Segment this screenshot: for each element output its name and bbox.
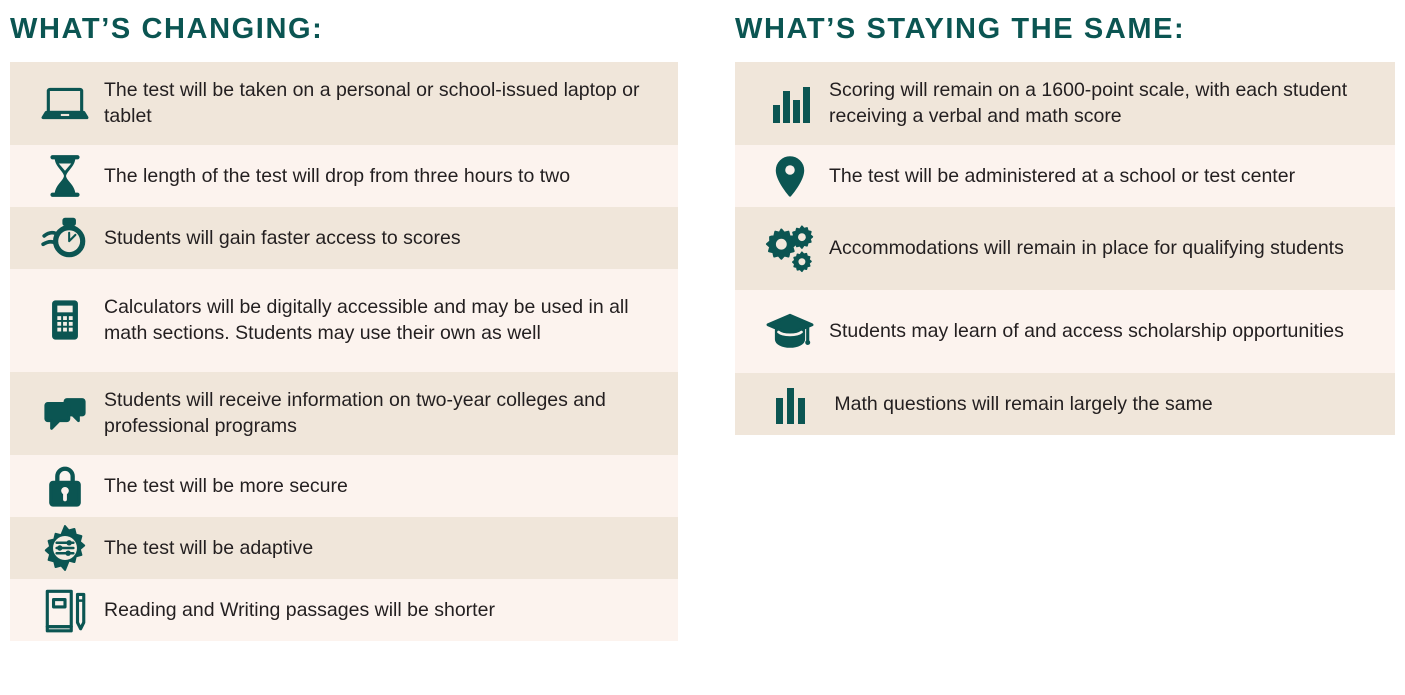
list-item-label: Reading and Writing passages will be sho…	[104, 597, 668, 623]
list-item-label: The test will be more secure	[104, 473, 668, 499]
list-item: The length of the test will drop from th…	[10, 145, 678, 207]
list-item: The test will be more secure	[10, 455, 678, 517]
list-item: Math questions will remain largely the s…	[735, 373, 1395, 435]
list-item: Students may learn of and access scholar…	[735, 290, 1395, 373]
column-title-changing: WHAT’S CHANGING:	[10, 0, 678, 62]
list-item-label: Scoring will remain on a 1600-point scal…	[829, 77, 1385, 130]
location-pin-icon	[751, 151, 829, 201]
list-item-label: Students may learn of and access scholar…	[829, 318, 1385, 344]
row-list-staying-same: Scoring will remain on a 1600-point scal…	[735, 62, 1395, 435]
list-item: Scoring will remain on a 1600-point scal…	[735, 62, 1395, 145]
book-pencil-icon	[26, 585, 104, 635]
list-item: The test will be adaptive	[10, 517, 678, 579]
list-item-label: The length of the test will drop from th…	[104, 163, 668, 189]
list-item-label: The test will be administered at a schoo…	[829, 163, 1385, 189]
gears-group-icon	[751, 222, 829, 274]
list-item: Students will receive information on two…	[10, 372, 678, 455]
list-item-label: Students will receive information on two…	[104, 387, 668, 440]
list-item: Students will gain faster access to scor…	[10, 207, 678, 269]
column-whats-changing: WHAT’S CHANGING: The test will be taken …	[10, 0, 678, 641]
list-item-label: Math questions will remain largely the s…	[829, 391, 1385, 417]
lock-icon	[26, 461, 104, 511]
bar-chart-icon	[751, 79, 829, 127]
column-title-staying-same: WHAT’S STAYING THE SAME:	[735, 0, 1395, 62]
list-item: The test will be taken on a personal or …	[10, 62, 678, 145]
list-item-label: Students will gain faster access to scor…	[104, 225, 668, 251]
row-list-changing: The test will be taken on a personal or …	[10, 62, 678, 641]
list-item: Reading and Writing passages will be sho…	[10, 579, 678, 641]
hourglass-icon	[26, 151, 104, 201]
list-item: The test will be administered at a schoo…	[735, 145, 1395, 207]
column-whats-staying-the-same: WHAT’S STAYING THE SAME: Scoring will re…	[735, 0, 1395, 435]
calculator-icon	[26, 295, 104, 345]
stopwatch-icon	[26, 213, 104, 263]
infographic-board: WHAT’S CHANGING: The test will be taken …	[0, 0, 1405, 695]
graduation-cap-icon	[751, 306, 829, 356]
list-item-label: The test will be adaptive	[104, 535, 668, 561]
list-item: Accommodations will remain in place for …	[735, 207, 1395, 290]
list-item: Calculators will be digitally accessible…	[10, 269, 678, 372]
gear-settings-icon	[26, 523, 104, 573]
list-item-label: Calculators will be digitally accessible…	[104, 294, 668, 347]
speech-bubbles-icon	[26, 390, 104, 436]
laptop-icon	[26, 78, 104, 128]
list-item-label: The test will be taken on a personal or …	[104, 77, 668, 130]
list-item-label: Accommodations will remain in place for …	[829, 235, 1385, 261]
bars-three-icon	[751, 379, 829, 429]
